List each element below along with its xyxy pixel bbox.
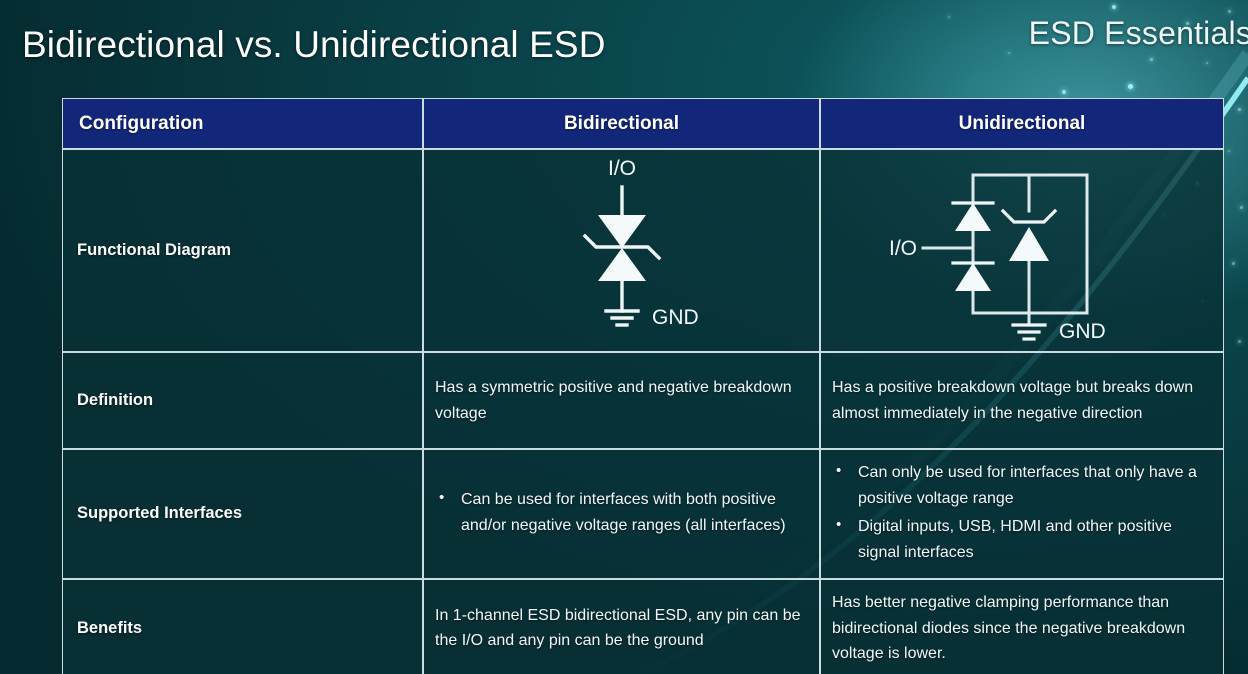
bullet-list-unidirectional: Can only be used for interfaces that onl… [832,460,1213,566]
page-title: Bidirectional vs. Unidirectional ESD [22,24,606,66]
list-item: Can be used for interfaces with both pos… [435,487,809,539]
upper-steering-diode [955,203,991,231]
table-header-row: Configuration Bidirectional Unidirection… [62,98,1224,149]
cell-benefits-unidirectional: Has better negative clamping performance… [820,579,1224,674]
table-row-definition: Definition Has a symmetric positive and … [62,352,1224,449]
zener-cathode-bar [1003,211,1055,222]
definition-bidirectional-text: Has a symmetric positive and negative br… [435,375,809,427]
definition-unidirectional-text: Has a positive breakdown voltage but bre… [832,375,1213,427]
cell-definition-unidirectional: Has a positive breakdown voltage but bre… [820,352,1224,449]
lower-steering-diode [955,263,991,291]
cell-interfaces-bidirectional: Can be used for interfaces with both pos… [423,449,820,579]
ground-symbol [1013,325,1045,339]
table-row-benefits: Benefits In 1-channel ESD bidirectional … [62,579,1224,674]
zener-diode-triangle [1009,227,1049,261]
list-item: Digital inputs, USB, HDMI and other posi… [832,514,1213,566]
ground-symbol [606,311,638,325]
list-item: Can only be used for interfaces that onl… [832,460,1213,512]
gnd-label: GND [1059,320,1106,343]
lower-diode-triangle [598,248,646,281]
bidirectional-tvs-schematic: I/O GND [502,153,742,349]
cell-benefits-bidirectional: In 1-channel ESD bidirectional ESD, any … [423,579,820,674]
row-label-definition: Definition [62,352,423,449]
benefits-unidirectional-text: Has better negative clamping performance… [832,590,1213,668]
bullet-list-bidirectional: Can be used for interfaces with both pos… [435,487,809,539]
row-label-functional-diagram: Functional Diagram [62,149,423,352]
benefits-bidirectional-text: In 1-channel ESD bidirectional ESD, any … [435,603,809,655]
unidirectional-rail-to-rail-schematic: I/O GND [877,153,1167,349]
row-label-supported-interfaces: Supported Interfaces [62,449,423,579]
cell-interfaces-unidirectional: Can only be used for interfaces that onl… [820,449,1224,579]
io-label: I/O [607,157,635,180]
upper-diode-triangle [598,215,646,248]
column-header-unidirectional: Unidirectional [820,98,1224,149]
io-label: I/O [889,237,917,260]
table-row-supported-interfaces: Supported Interfaces Can be used for int… [62,449,1224,579]
table-row-functional-diagram: Functional Diagram [62,149,1224,352]
slide-title-bar: Bidirectional vs. Unidirectional ESD ESD… [0,0,1248,86]
column-header-configuration: Configuration [62,98,423,149]
gnd-label: GND [652,306,699,329]
comparison-table: Configuration Bidirectional Unidirection… [62,98,1224,674]
brand-label: ESD Essentials [1029,15,1248,52]
cell-definition-bidirectional: Has a symmetric positive and negative br… [423,352,820,449]
cell-bidirectional-diagram: I/O GND [423,149,820,352]
column-header-bidirectional: Bidirectional [423,98,820,149]
cell-unidirectional-diagram: I/O GND [820,149,1224,352]
row-label-benefits: Benefits [62,579,423,674]
